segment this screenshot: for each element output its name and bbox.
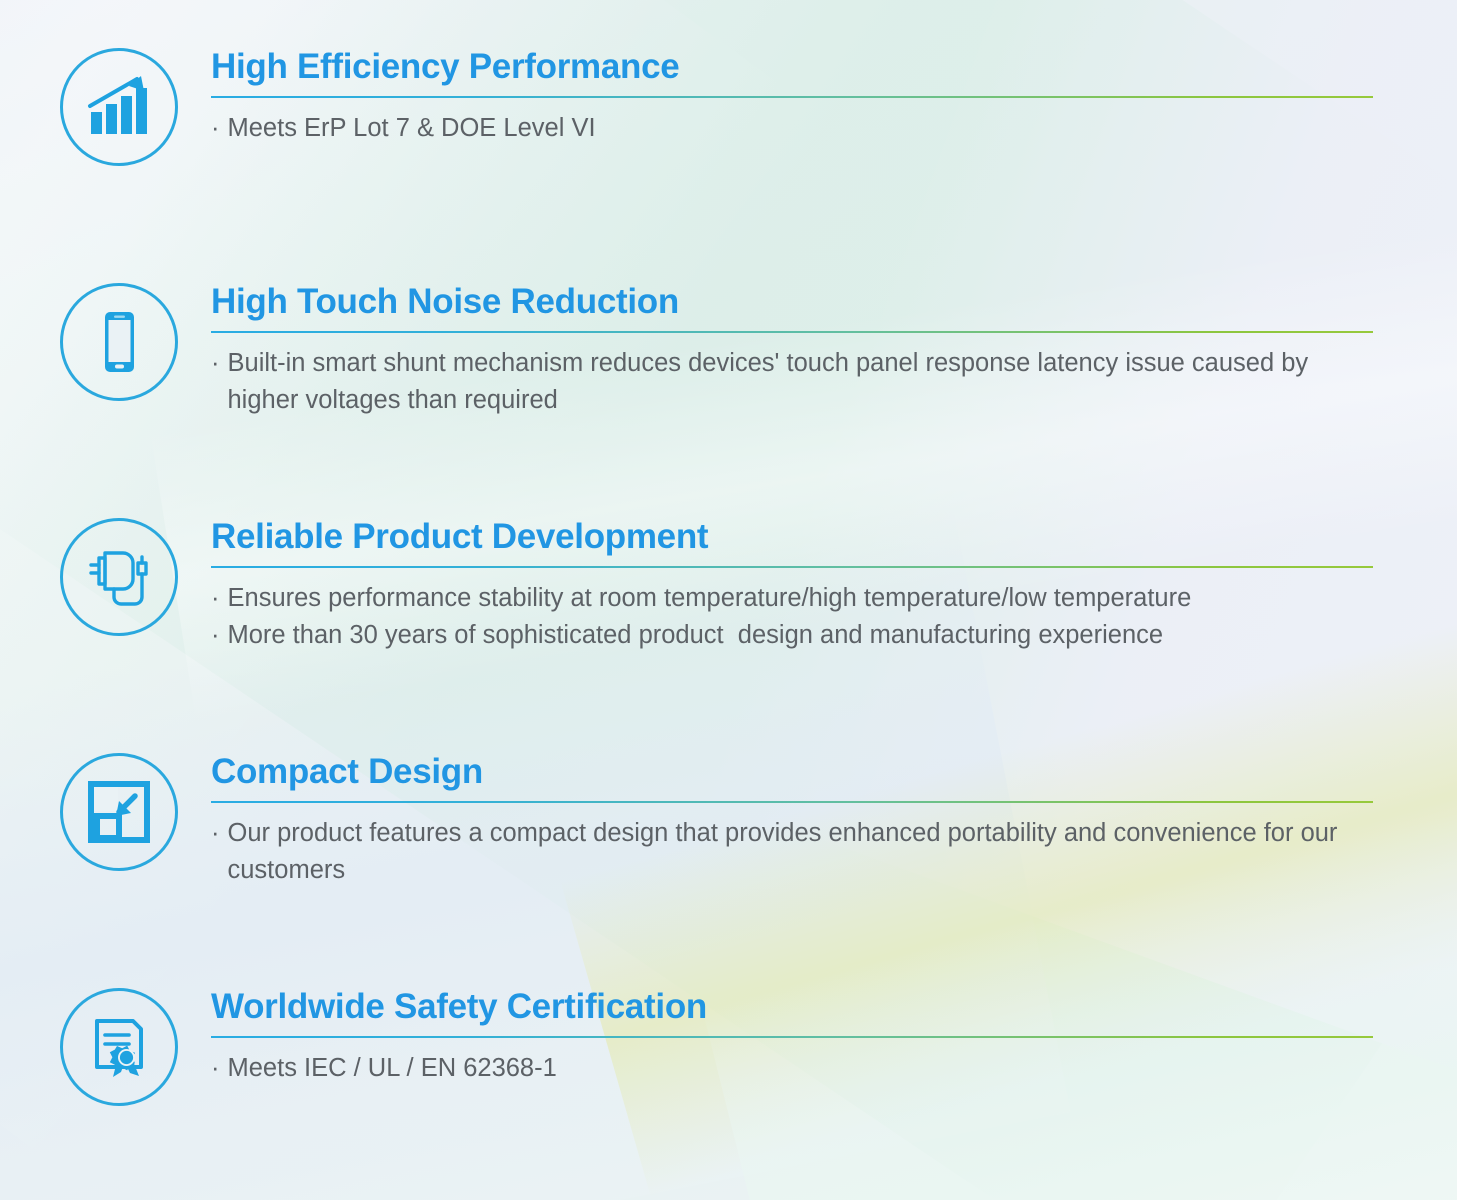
- feature-divider: [211, 96, 1373, 98]
- bullet-text: Our product features a compact design th…: [228, 815, 1382, 889]
- bullet-marker-icon: ·: [211, 580, 220, 617]
- feature-bullet: · Ensures performance stability at room …: [211, 580, 1381, 617]
- feature-bullet: · More than 30 years of sophisticated pr…: [211, 617, 1381, 654]
- feature-title: Reliable Product Development: [211, 516, 1381, 558]
- feature-bullet: · Meets ErP Lot 7 & DOE Level VI: [211, 110, 1381, 147]
- feature-bullets: · Ensures performance stability at room …: [211, 580, 1381, 654]
- feature-bullets: · Meets ErP Lot 7 & DOE Level VI: [211, 110, 1381, 147]
- feature-bullet: · Meets IEC / UL / EN 62368-1: [211, 1050, 1381, 1087]
- feature-divider: [211, 1036, 1373, 1038]
- bullet-text: Meets IEC / UL / EN 62368-1: [228, 1050, 1382, 1087]
- feature-body: Reliable Product Development · Ensures p…: [211, 516, 1381, 654]
- feature-body: Worldwide Safety Certification · Meets I…: [211, 986, 1381, 1087]
- feature-icon-wrap: [58, 46, 180, 168]
- bullet-text: Built-in smart shunt mechanism reduces d…: [228, 345, 1382, 419]
- feature-title: High Touch Noise Reduction: [211, 281, 1381, 323]
- feature-bullet: · Our product features a compact design …: [211, 815, 1381, 889]
- feature-body: Compact Design · Our product features a …: [211, 751, 1381, 889]
- feature-bullets: · Meets IEC / UL / EN 62368-1: [211, 1050, 1381, 1087]
- compact-resize-icon: [60, 753, 178, 871]
- feature-highlights-page: High Efficiency Performance · Meets ErP …: [0, 0, 1457, 1200]
- feature-divider: [211, 331, 1373, 333]
- feature-body: High Efficiency Performance · Meets ErP …: [211, 46, 1381, 147]
- feature-icon-wrap: [58, 516, 180, 638]
- feature-list: High Efficiency Performance · Meets ErP …: [0, 0, 1457, 1200]
- feature-title: High Efficiency Performance: [211, 46, 1381, 88]
- feature-icon-wrap: [58, 281, 180, 403]
- feature-body: High Touch Noise Reduction · Built-in sm…: [211, 281, 1381, 419]
- feature-icon-wrap: [58, 751, 180, 873]
- bullet-text: More than 30 years of sophisticated prod…: [228, 617, 1382, 654]
- bullet-marker-icon: ·: [211, 345, 220, 382]
- bullet-text: Ensures performance stability at room te…: [228, 580, 1382, 617]
- certificate-seal-icon: [60, 988, 178, 1106]
- feature-bullets: · Our product features a compact design …: [211, 815, 1381, 889]
- feature-title: Compact Design: [211, 751, 1381, 793]
- bullet-marker-icon: ·: [211, 110, 220, 147]
- bullet-marker-icon: ·: [211, 1050, 220, 1087]
- bar-chart-growth-icon: [60, 48, 178, 166]
- feature-title: Worldwide Safety Certification: [211, 986, 1381, 1028]
- feature-bullet: · Built-in smart shunt mechanism reduces…: [211, 345, 1381, 419]
- feature-icon-wrap: [58, 986, 180, 1108]
- bullet-marker-icon: ·: [211, 815, 220, 852]
- feature-divider: [211, 566, 1373, 568]
- feature-bullets: · Built-in smart shunt mechanism reduces…: [211, 345, 1381, 419]
- bullet-text: Meets ErP Lot 7 & DOE Level VI: [228, 110, 1382, 147]
- bullet-marker-icon: ·: [211, 617, 220, 654]
- feature-divider: [211, 801, 1373, 803]
- smartphone-icon: [60, 283, 178, 401]
- power-adapter-icon: [60, 518, 178, 636]
